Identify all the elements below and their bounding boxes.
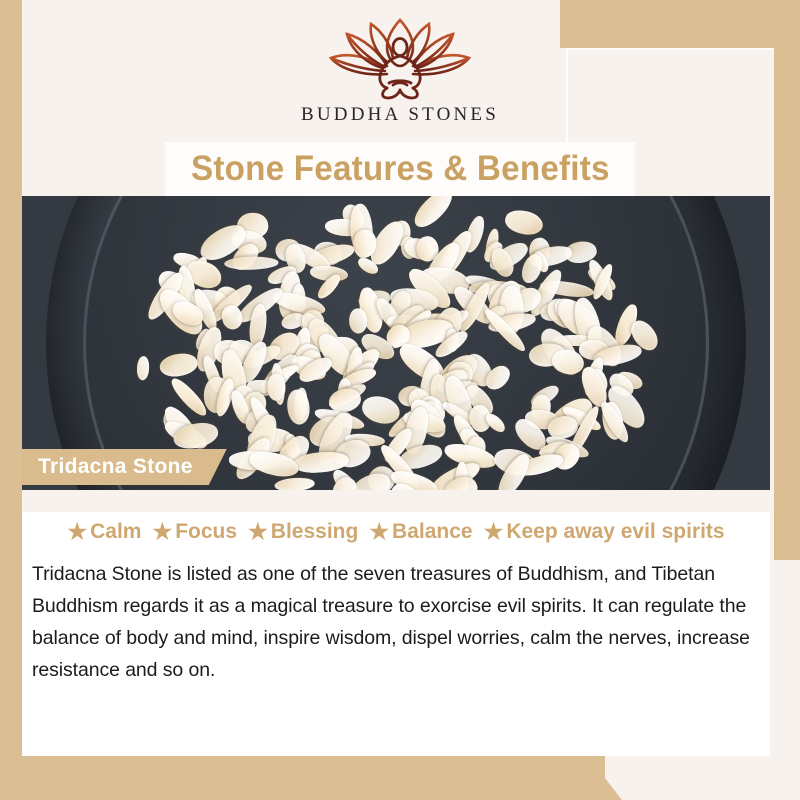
benefit-label: Calm: [90, 520, 141, 544]
benefit-label: Blessing: [271, 520, 359, 544]
brand-wordmark: BUDDHA STONES: [301, 104, 499, 126]
star-icon: ★: [484, 521, 504, 543]
benefit-item: ★Calm: [63, 520, 145, 544]
star-icon: ★: [248, 521, 268, 543]
content-top-fade: [22, 490, 770, 512]
tridacna-shell-pile: [116, 196, 676, 490]
shell-chip: [285, 389, 311, 426]
shell-chip: [267, 373, 286, 400]
stone-name-label: Tridacna Stone: [22, 449, 227, 485]
star-icon: ★: [369, 521, 389, 543]
description-paragraph: Tridacna Stone is listed as one of the s…: [32, 558, 762, 686]
frame-bottom-band: [0, 756, 605, 800]
benefit-label: Keep away evil spirits: [506, 520, 724, 544]
benefit-item: ★Keep away evil spirits: [480, 520, 729, 544]
product-photo: [22, 196, 770, 490]
shell-chip: [503, 208, 545, 238]
benefit-item: ★Focus: [148, 520, 241, 544]
benefit-label: Focus: [175, 520, 237, 544]
shell-chip: [275, 476, 315, 490]
poster-root: BUDDHA STONES Stone Features & Benefits …: [0, 0, 800, 800]
shell-chip: [158, 350, 199, 379]
shell-chip: [483, 411, 508, 435]
benefit-item: ★Blessing: [244, 520, 362, 544]
page-title: Stone Features & Benefits: [191, 149, 610, 189]
shell-chip: [136, 356, 149, 380]
frame-bottom-band-tip: [588, 756, 622, 800]
shell-chip: [224, 256, 279, 270]
shell-chip: [349, 308, 368, 334]
benefit-item: ★Balance: [365, 520, 476, 544]
brand-header: BUDDHA STONES: [0, 0, 800, 142]
star-icon: ★: [152, 521, 172, 543]
title-band: Stone Features & Benefits: [165, 142, 635, 196]
star-icon: ★: [67, 521, 87, 543]
shell-chip: [353, 229, 377, 257]
content-panel: ★Calm★Focus★Blessing★Balance★Keep away e…: [22, 490, 770, 756]
shell-chip: [409, 196, 457, 233]
benefit-label: Balance: [392, 520, 473, 544]
lotus-meditation-icon: [325, 18, 475, 100]
benefits-row: ★Calm★Focus★Blessing★Balance★Keep away e…: [22, 520, 770, 544]
